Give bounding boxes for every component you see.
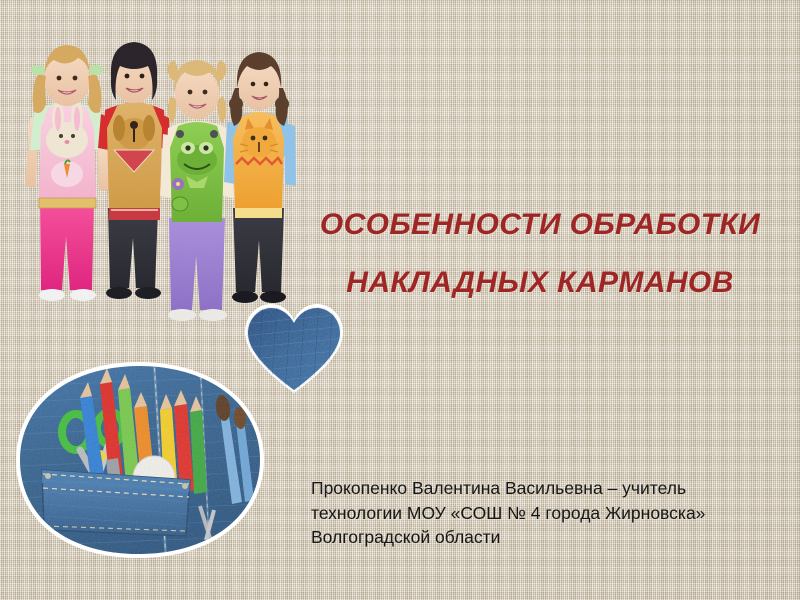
author-line-3: Волгоградской области: [311, 525, 771, 550]
slide-title: ОСОБЕННОСТИ ОБРАБОТКИ НАКЛАДНЫХ КАРМАНОВ: [305, 196, 775, 312]
presentation-slide: ОСОБЕННОСТИ ОБРАБОТКИ НАКЛАДНЫХ КАРМАНОВ…: [0, 0, 800, 600]
author-line-1: Прокопенко Валентина Васильевна – учител…: [311, 476, 771, 501]
denim-pocket-with-supplies-photo: [14, 360, 266, 560]
girls-in-aprons-photo: [8, 22, 320, 322]
author-credit: Прокопенко Валентина Васильевна – учител…: [311, 476, 771, 550]
title-line-1: ОСОБЕННОСТИ ОБРАБОТКИ: [305, 196, 775, 254]
author-line-2: технологии МОУ «СОШ № 4 города Жирновска…: [311, 501, 771, 526]
title-line-2: НАКЛАДНЫХ КАРМАНОВ: [305, 254, 775, 312]
